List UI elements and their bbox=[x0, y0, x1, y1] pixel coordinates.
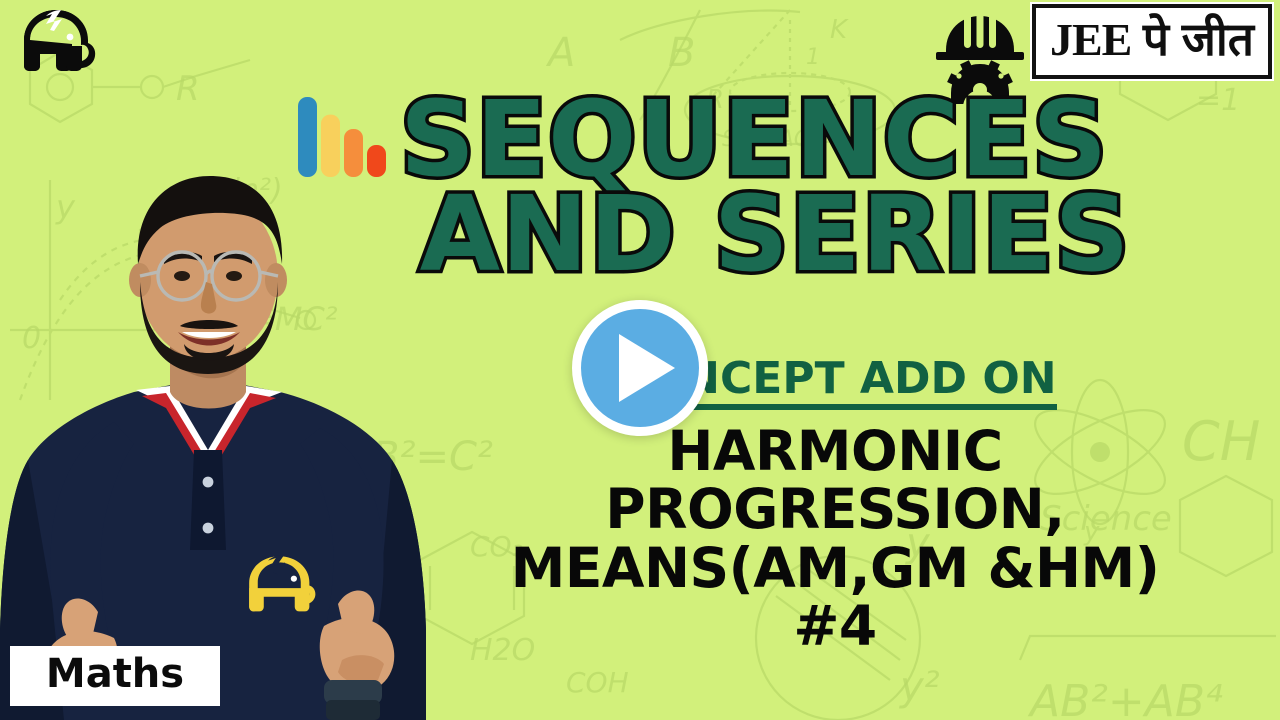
svg-text:y: y bbox=[55, 188, 76, 226]
video-thumbnail: R A B K 1 R SURFACE y 0 sin²) =MC² B²=C²… bbox=[0, 0, 1280, 720]
subject-tag-label: Maths bbox=[36, 651, 194, 697]
svg-text:COH: COH bbox=[566, 666, 629, 699]
elephant-icon bbox=[10, 6, 125, 84]
topic-line-1: HARMONIC bbox=[440, 422, 1230, 480]
jee-badge-label: JEE पे जीत bbox=[1050, 10, 1254, 69]
topic-line-2: PROGRESSION, bbox=[440, 480, 1230, 538]
svg-text:1: 1 bbox=[806, 45, 820, 70]
svg-text:y²: y² bbox=[899, 664, 940, 710]
play-button[interactable] bbox=[572, 300, 708, 436]
svg-text:B: B bbox=[668, 30, 695, 76]
svg-text:sin²): sin²) bbox=[216, 173, 283, 208]
subject-tag: Maths bbox=[10, 646, 220, 706]
jee-badge-label-devanagari: पे जीत bbox=[1143, 13, 1254, 65]
play-icon bbox=[619, 334, 675, 402]
topic-lines: HARMONIC PROGRESSION, MEANS(AM,GM &HM) #… bbox=[440, 422, 1230, 655]
topic-line-3: MEANS(AM,GM &HM) bbox=[440, 539, 1230, 597]
jee-badge-label-latin: JEE bbox=[1050, 14, 1131, 65]
svg-text:A: A bbox=[545, 30, 575, 76]
svg-text:=MC²: =MC² bbox=[248, 300, 338, 338]
svg-text:0: 0 bbox=[22, 321, 41, 356]
title-line-2: AND SERIES bbox=[296, 182, 1268, 286]
svg-text:AB²+AB⁴: AB²+AB⁴ bbox=[1027, 676, 1223, 720]
title-block: SEQUENCES AND SERIES bbox=[296, 92, 1268, 286]
svg-text:K: K bbox=[830, 15, 849, 45]
jee-pe-jeet-box: JEE पे जीत bbox=[1032, 4, 1272, 79]
bar-chart-icon bbox=[296, 95, 392, 179]
subtitle-block: CONCEPT ADD ON HARMONIC PROGRESSION, MEA… bbox=[440, 356, 1230, 655]
topic-line-4: #4 bbox=[440, 597, 1230, 655]
svg-text:R: R bbox=[176, 69, 200, 109]
